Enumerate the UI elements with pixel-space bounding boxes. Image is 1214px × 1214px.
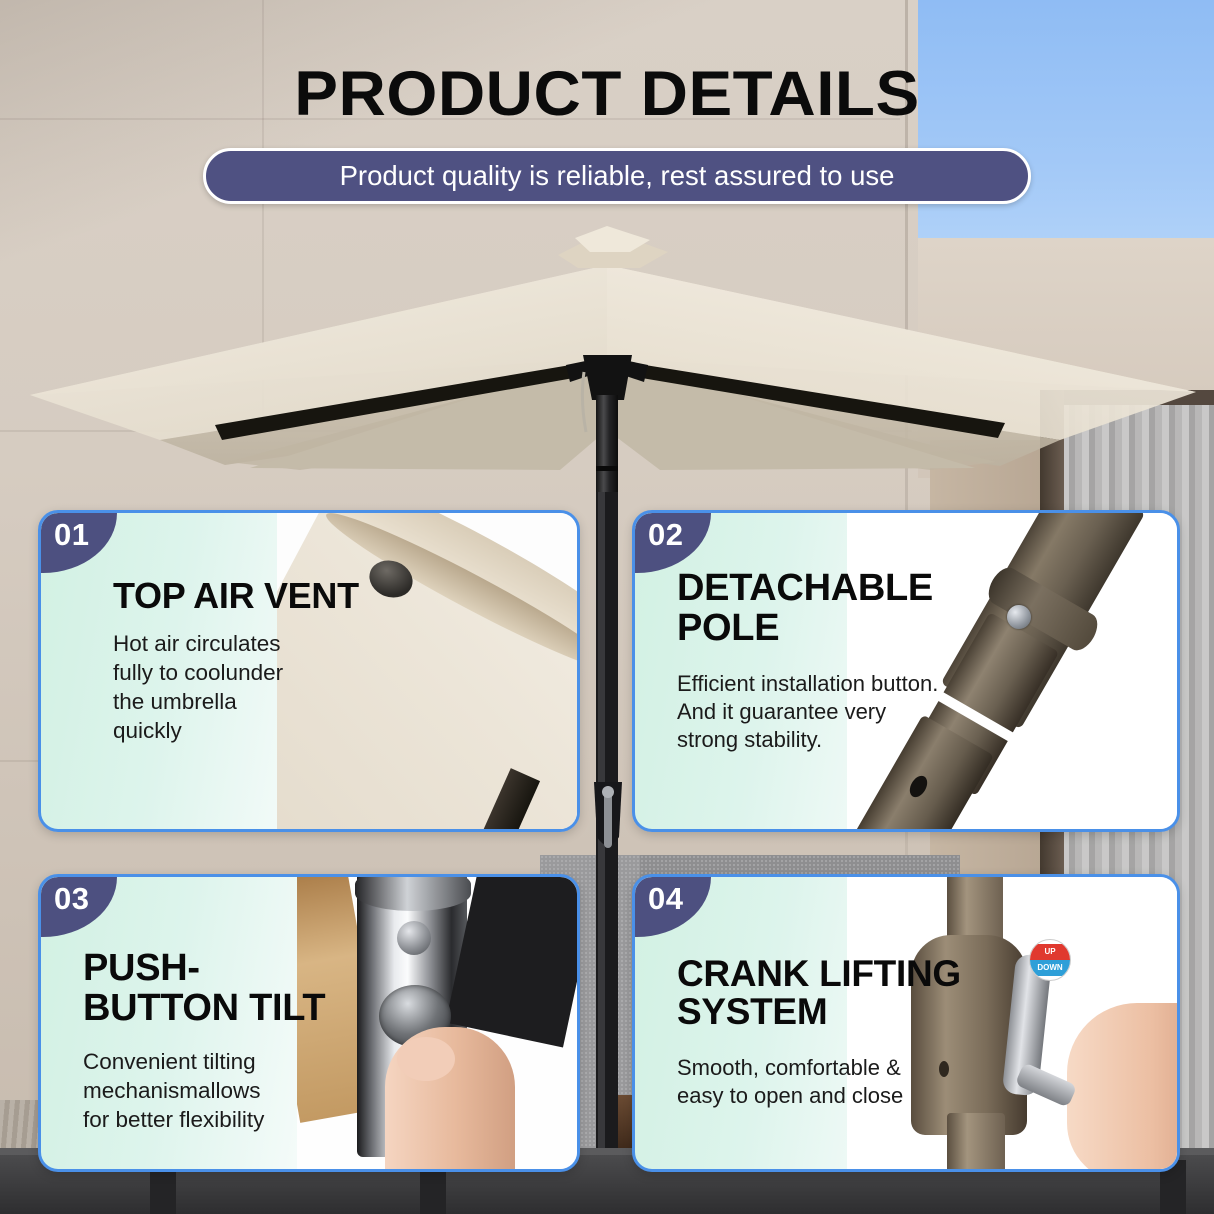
up-label: UP	[1030, 944, 1070, 960]
card-text-block: TOP AIR VENT Hot air circulates fully to…	[113, 577, 413, 746]
card-body-text: Convenient tilting mechanismallows for b…	[83, 1048, 403, 1134]
card-body-text: Hot air circulates fully to coolunder th…	[113, 630, 413, 745]
card-heading: DETACHABLE POLE	[677, 569, 1037, 648]
up-down-sticker-icon: UP DOWN	[1029, 939, 1071, 981]
card-text-block: DETACHABLE POLE Efficient installation b…	[677, 569, 1037, 755]
card-heading: CRANK LIFTING SYSTEM	[677, 955, 1007, 1032]
feature-card-02[interactable]: 02 DETACHABLE POLE Efficient installatio…	[632, 510, 1180, 832]
down-label: DOWN	[1030, 960, 1070, 976]
card-number-badge: 03	[41, 877, 117, 937]
subtitle-pill: Product quality is reliable, rest assure…	[203, 148, 1031, 204]
card-number-badge: 01	[41, 513, 117, 573]
feature-card-03[interactable]: 03 PUSH- BUTTON TILT Convenient tilting …	[38, 874, 580, 1172]
card-heading: PUSH- BUTTON TILT	[83, 949, 403, 1028]
subtitle-text: Product quality is reliable, rest assure…	[340, 160, 895, 192]
card-body-text: Efficient installation button. And it gu…	[677, 670, 1037, 754]
hand-turning-crank-illustration	[1067, 1003, 1177, 1169]
page-title: PRODUCT DETAILS	[0, 58, 1214, 130]
card-heading: TOP AIR VENT	[113, 577, 413, 614]
card-body-text: Smooth, comfortable & easy to open and c…	[677, 1054, 1007, 1110]
card-number-badge: 02	[635, 513, 711, 573]
card-number-badge: 04	[635, 877, 711, 937]
infographic-overlay: PRODUCT DETAILS Product quality is relia…	[0, 0, 1214, 1214]
card-text-block: CRANK LIFTING SYSTEM Smooth, comfortable…	[677, 955, 1007, 1110]
card-text-block: PUSH- BUTTON TILT Convenient tilting mec…	[83, 949, 403, 1134]
feature-card-04[interactable]: UP DOWN 04 CRANK LIFTING SYSTEM Smooth, …	[632, 874, 1180, 1172]
feature-card-01[interactable]: 01 TOP AIR VENT Hot air circulates fully…	[38, 510, 580, 832]
